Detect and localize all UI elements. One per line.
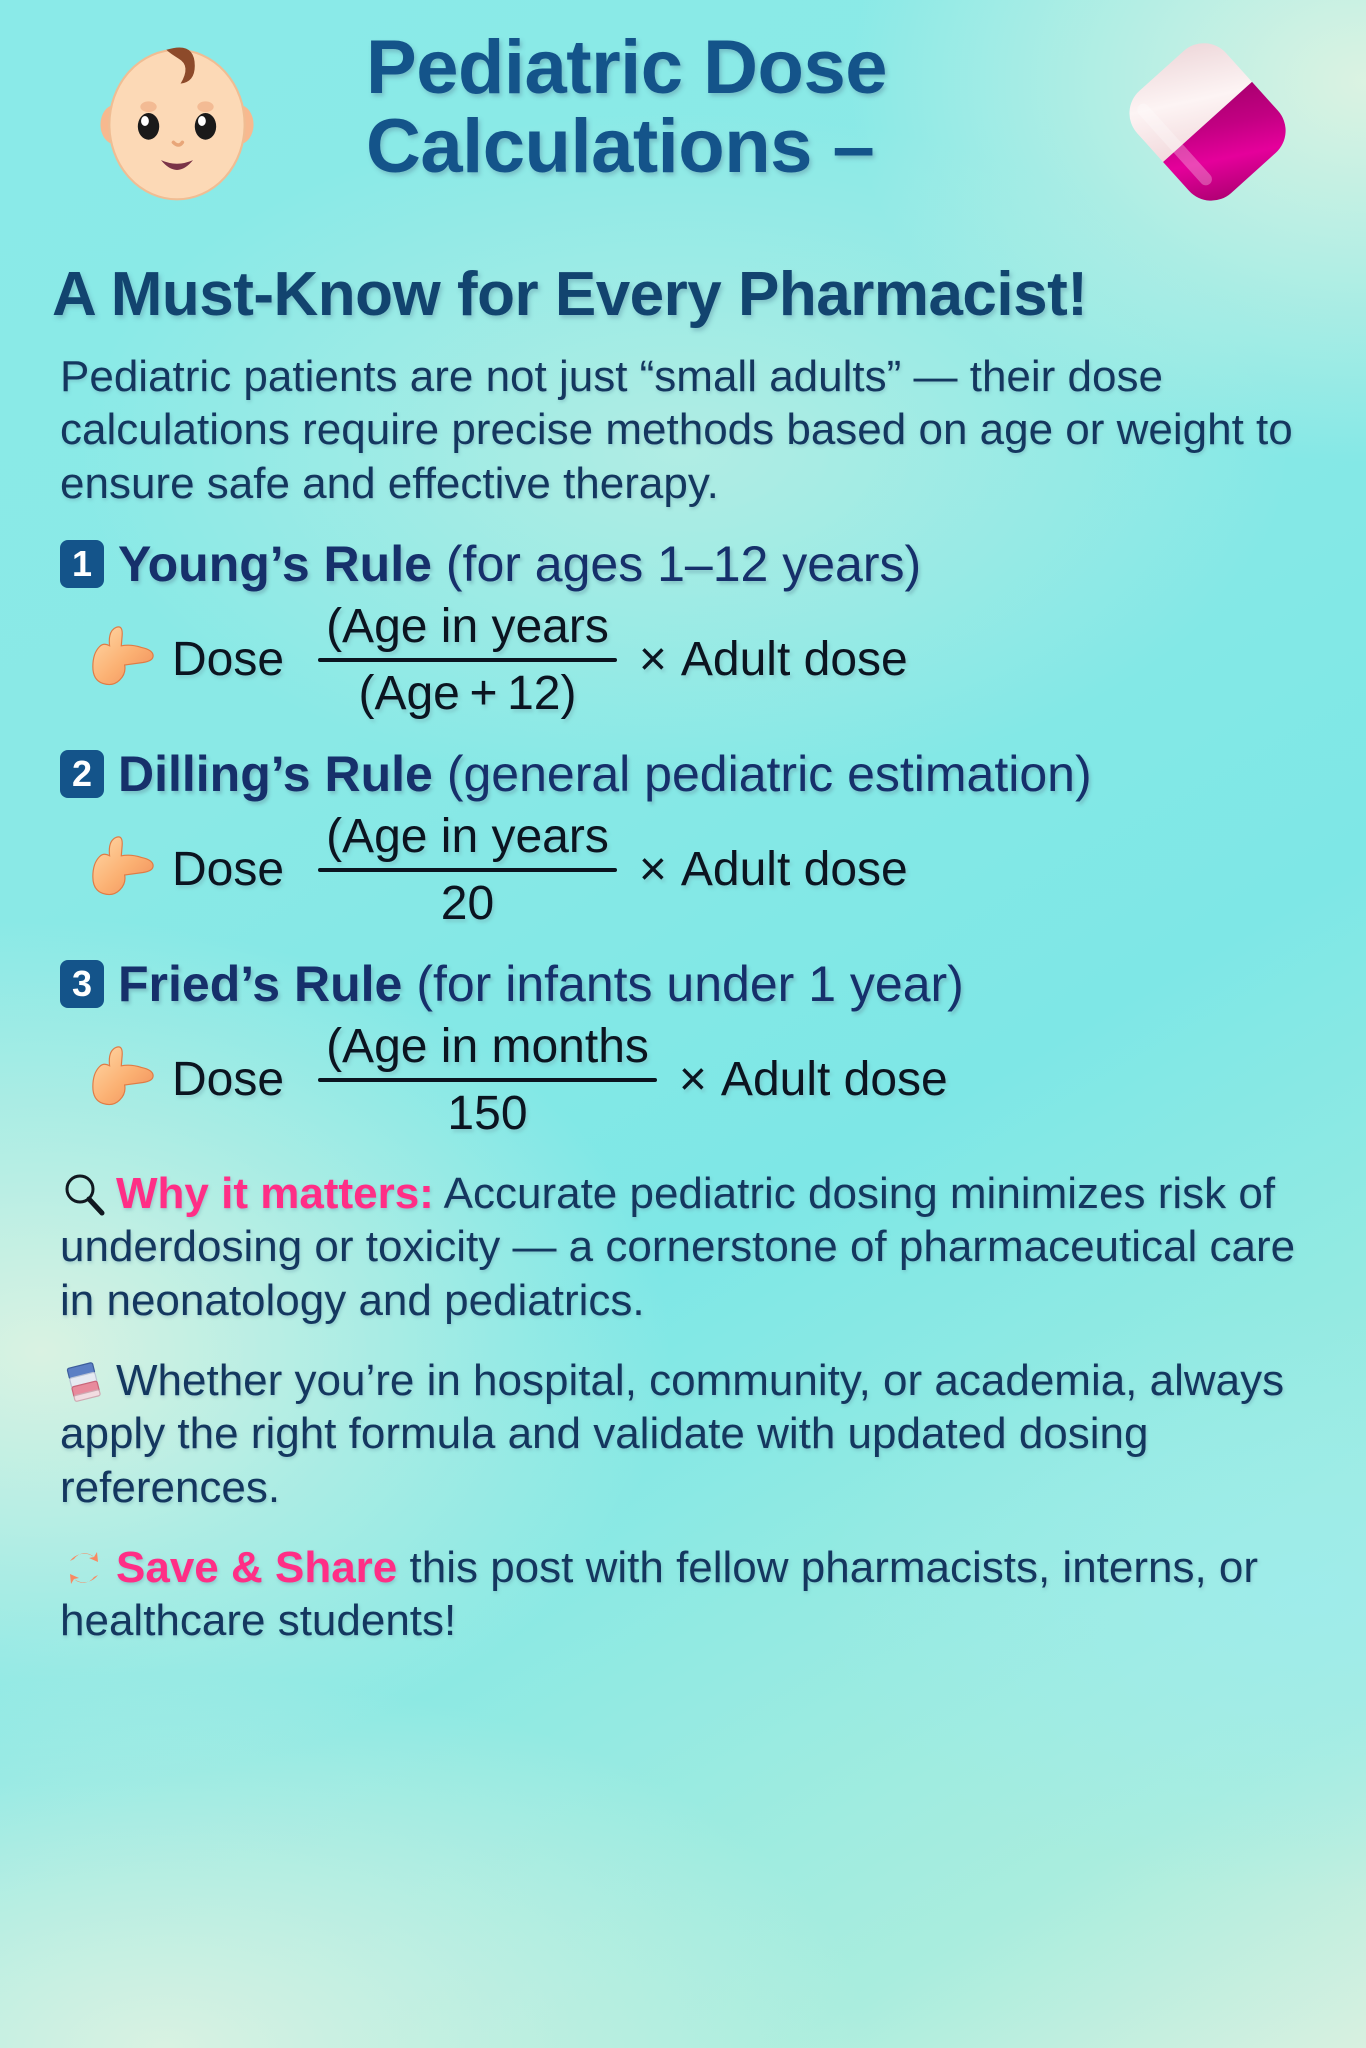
- fraction-denominator: (Age + 12): [350, 662, 584, 721]
- rule-note: (general pediatric estimation): [447, 749, 1092, 799]
- multiply-operator: ×: [639, 842, 667, 897]
- fraction-denominator: 20: [433, 872, 502, 931]
- rule-name: Young’s Rule: [118, 539, 432, 589]
- page-subtitle: A Must-Know for Every Pharmacist!: [26, 262, 1340, 328]
- fraction-denominator: 150: [439, 1082, 535, 1141]
- page-title: Pediatric Dose Calculations –: [366, 28, 1106, 186]
- rule-block: 2 Dilling’s Rule (general pediatric esti…: [26, 749, 1340, 931]
- rule-number-badge: 2: [60, 750, 104, 798]
- rule-number-badge: 1: [60, 540, 104, 588]
- recycle-arrows-emoji: [60, 1544, 108, 1592]
- intro-paragraph: Pediatric patients are not just “small a…: [26, 350, 1340, 511]
- multiplier-label: Adult dose: [681, 632, 908, 687]
- practice-note-paragraph: Whether you’re in hospital, community, o…: [26, 1354, 1340, 1515]
- fraction-numerator: (Age in years: [318, 599, 617, 658]
- rule-heading: 1 Young’s Rule (for ages 1–12 years): [60, 539, 1306, 589]
- why-it-matters-lede: Why it matters:: [116, 1169, 434, 1218]
- pointing-right-hand-emoji: [86, 1044, 170, 1116]
- fraction-numerator: (Age in months: [318, 1019, 657, 1078]
- dose-label: Dose: [172, 632, 284, 687]
- fraction: (Age in months 150: [318, 1019, 657, 1141]
- dose-label: Dose: [172, 842, 284, 897]
- rule-heading: 2 Dilling’s Rule (general pediatric esti…: [60, 749, 1306, 799]
- fraction: (Age in years (Age + 12): [318, 599, 617, 721]
- rule-block: 1 Young’s Rule (for ages 1–12 years) Dos: [26, 539, 1340, 721]
- rule-heading: 3 Fried’s Rule (for infants under 1 year…: [60, 959, 1306, 1009]
- pointing-right-hand-emoji: [86, 624, 170, 696]
- rule-name: Dilling’s Rule: [118, 749, 433, 799]
- cta-paragraph: Save & Share this post with fellow pharm…: [26, 1541, 1340, 1648]
- multiply-operator: ×: [639, 632, 667, 687]
- cta-lede: Save & Share: [116, 1543, 397, 1592]
- multiplier-label: Adult dose: [721, 1052, 948, 1107]
- practice-note-text: Whether you’re in hospital, community, o…: [60, 1356, 1284, 1512]
- fraction: (Age in years 20: [318, 809, 617, 931]
- multiplier-label: Adult dose: [681, 842, 908, 897]
- pointing-right-hand-emoji: [86, 834, 170, 906]
- baby-face-emoji: [88, 32, 266, 210]
- infographic-poster: Pediatric Dose Calculations –: [0, 0, 1366, 2048]
- dose-label: Dose: [172, 1052, 284, 1107]
- magnifying-glass-icon: [60, 1170, 108, 1218]
- pill-capsule-emoji: [1116, 30, 1292, 206]
- rule-note: (for ages 1–12 years): [446, 539, 921, 589]
- title-line-2: Calculations –: [366, 107, 1106, 186]
- multiply-operator: ×: [679, 1052, 707, 1107]
- formula-row: Dose (Age in months 150 × Adult dose: [60, 1019, 1306, 1141]
- fraction-numerator: (Age in years: [318, 809, 617, 868]
- formula-row: Dose (Age in years (Age + 12) × Adult do…: [60, 599, 1306, 721]
- rule-note: (for infants under 1 year): [416, 959, 964, 1009]
- books-emoji: [60, 1357, 108, 1405]
- formula-row: Dose (Age in years 20 × Adult dose: [60, 809, 1306, 931]
- title-line-1: Pediatric Dose: [366, 28, 1106, 107]
- rule-block: 3 Fried’s Rule (for infants under 1 year…: [26, 959, 1340, 1141]
- rule-number-badge: 3: [60, 960, 104, 1008]
- why-it-matters-paragraph: Why it matters: Accurate pediatric dosin…: [26, 1167, 1340, 1328]
- poster-header: Pediatric Dose Calculations –: [26, 0, 1340, 258]
- rule-name: Fried’s Rule: [118, 959, 402, 1009]
